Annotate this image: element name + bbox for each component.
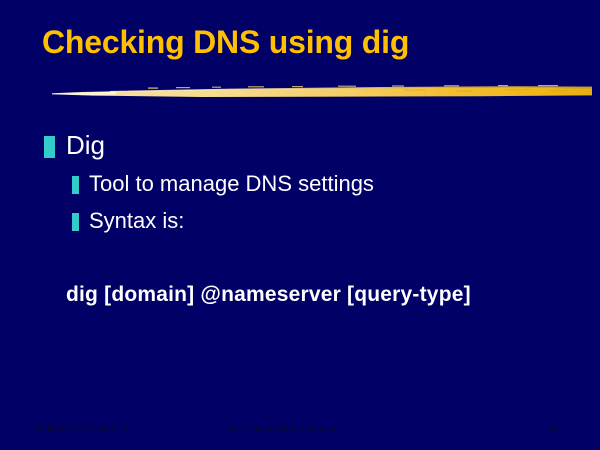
bullet-item: Syntax is: — [72, 208, 184, 234]
footer-page-number: 55 — [548, 424, 558, 434]
footer-left-label: AFNOG NTW 2000 - T1 — [36, 424, 132, 434]
presentation-slide: Checking DNS using dig — [0, 0, 600, 450]
bullet-text: Syntax is: — [89, 208, 184, 234]
bullet-marker-icon — [72, 213, 79, 231]
dig-syntax-code-line: dig [domain] @nameserver [query-type] — [66, 283, 471, 307]
bullet-text: Tool to manage DNS settings — [89, 171, 374, 197]
slide-body: Dig Tool to manage DNS settings Syntax i… — [0, 0, 600, 450]
bullet-marker-icon — [72, 176, 79, 194]
bullet-item: Dig — [44, 130, 105, 160]
bullet-text: Dig — [66, 130, 105, 160]
footer-center-label: The Domain Name System — [228, 424, 336, 434]
bullet-marker-icon — [44, 136, 55, 158]
bullet-item: Tool to manage DNS settings — [72, 171, 374, 197]
